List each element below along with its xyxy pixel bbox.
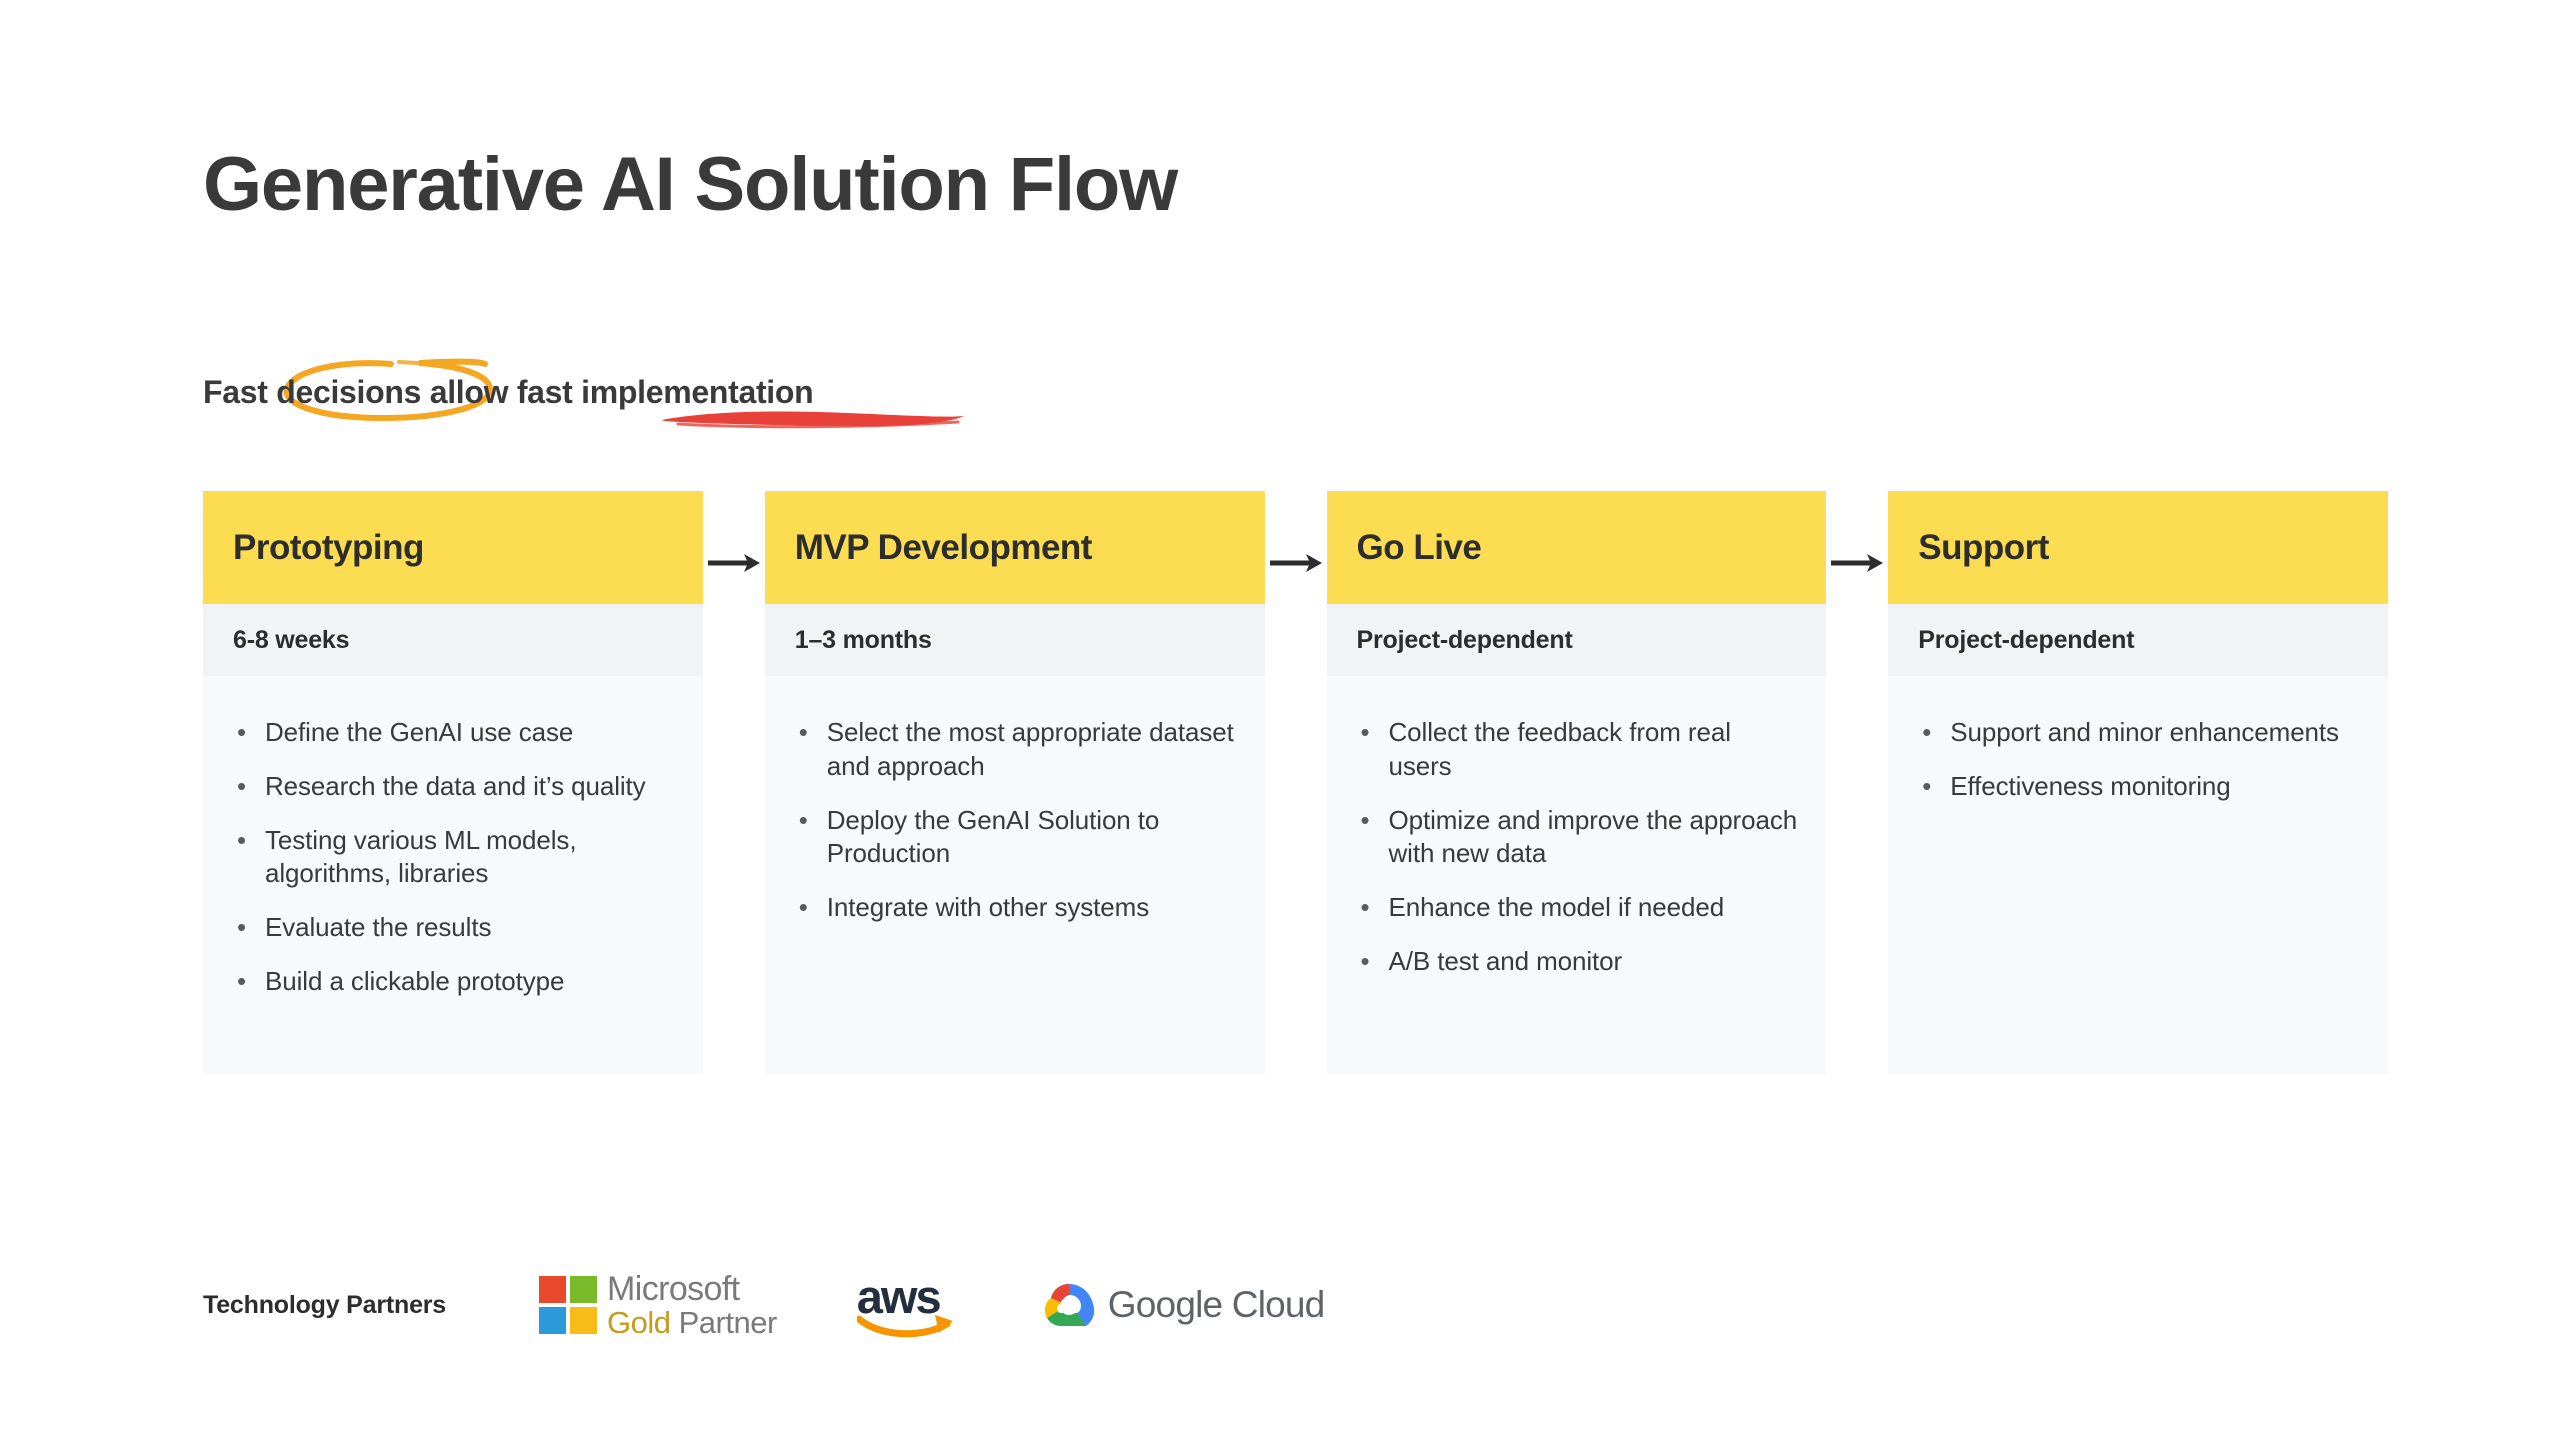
bullet-text: Deploy the GenAI Solution to Production <box>827 805 1160 869</box>
bullet-dot-icon: • <box>1922 770 1931 804</box>
technology-partners-footer: Technology Partners Microsoft Gold Partn… <box>203 1265 1324 1345</box>
google-cloud-icon <box>1042 1281 1096 1329</box>
list-item: •Enhance the model if needed <box>1355 891 1799 925</box>
stage-bullet-list: •Support and minor enhancements •Effecti… <box>1916 716 2360 804</box>
bullet-dot-icon: • <box>1922 716 1931 750</box>
subtitle-middle: allow fast <box>421 374 581 410</box>
flow-stage-mvp-development[interactable]: MVP Development 1–3 months •Select the m… <box>765 491 1265 1074</box>
bullet-text: Support and minor enhancements <box>1950 717 2339 747</box>
flow-stage-prototyping[interactable]: Prototyping 6-8 weeks •Define the GenAI … <box>203 491 703 1074</box>
aws-logo: aws <box>857 1273 962 1337</box>
bullet-text: Collect the feedback from real users <box>1389 717 1731 781</box>
microsoft-squares-icon <box>539 1276 597 1334</box>
stage-duration-band: Project-dependent <box>1327 604 1827 676</box>
list-item: •Collect the feedback from real users <box>1355 716 1799 784</box>
list-item: •Build a clickable prototype <box>231 965 675 999</box>
bullet-text: Define the GenAI use case <box>265 717 573 747</box>
subtitle-circled-word: decisions <box>276 374 421 410</box>
technology-partners-label: Technology Partners <box>203 1291 446 1320</box>
list-item: •Select the most appropriate dataset and… <box>793 716 1237 784</box>
flow-stage-go-live[interactable]: Go Live Project-dependent •Collect the f… <box>1327 491 1827 1074</box>
google-text: Google <box>1108 1284 1223 1325</box>
subtitle-underlined-word: implementation <box>581 374 813 410</box>
microsoft-gold-partner-logo: Microsoft Gold Partner <box>539 1272 777 1338</box>
stage-header: Prototyping <box>203 491 703 604</box>
stage-title: MVP Development <box>795 528 1092 568</box>
list-item: •Research the data and it’s quality <box>231 770 675 804</box>
flow-connector-2 <box>1265 491 1327 1074</box>
microsoft-partner-text: Partner <box>671 1305 777 1340</box>
bullet-text: Enhance the model if needed <box>1389 892 1725 922</box>
stage-title: Go Live <box>1357 528 1482 568</box>
microsoft-gold-text: Gold <box>607 1305 670 1340</box>
arrow-right-icon <box>708 552 760 574</box>
microsoft-tier: Gold Partner <box>607 1307 777 1338</box>
list-item: •Evaluate the results <box>231 911 675 945</box>
flow-connector-1 <box>703 491 765 1074</box>
list-item: •Effectiveness monitoring <box>1916 770 2360 804</box>
bullet-text: Testing various ML models, algorithms, l… <box>265 825 576 889</box>
flow-connector-3 <box>1826 491 1888 1074</box>
bullet-text: Select the most appropriate dataset and … <box>827 717 1234 781</box>
list-item: •A/B test and monitor <box>1355 945 1799 979</box>
list-item: •Support and minor enhancements <box>1916 716 2360 750</box>
bullet-text: Research the data and it’s quality <box>265 771 646 801</box>
bullet-text: A/B test and monitor <box>1389 946 1623 976</box>
bullet-text: Build a clickable prototype <box>265 966 564 996</box>
bullet-dot-icon: • <box>237 716 246 750</box>
stage-header: Go Live <box>1327 491 1827 604</box>
stage-duration: Project-dependent <box>1918 626 2134 655</box>
stage-title: Prototyping <box>233 528 424 568</box>
list-item: •Define the GenAI use case <box>231 716 675 750</box>
bullet-text: Effectiveness monitoring <box>1950 771 2230 801</box>
cloud-text: Cloud <box>1222 1284 1324 1325</box>
solution-flow-diagram: Prototyping 6-8 weeks •Define the GenAI … <box>203 491 2388 1074</box>
stage-header: Support <box>1888 491 2388 604</box>
bullet-dot-icon: • <box>237 770 246 804</box>
list-item: •Deploy the GenAI Solution to Production <box>793 804 1237 872</box>
stage-duration: Project-dependent <box>1357 626 1573 655</box>
list-item: •Testing various ML models, algorithms, … <box>231 824 675 892</box>
stage-body: •Collect the feedback from real users •O… <box>1327 676 1827 1074</box>
bullet-text: Integrate with other systems <box>827 892 1149 922</box>
arrow-right-icon <box>1270 552 1322 574</box>
stage-duration-band: Project-dependent <box>1888 604 2388 676</box>
subtitle-prefix: Fast <box>203 374 276 410</box>
subtitle-text: Fast decisions allow fast implementation <box>203 370 813 414</box>
bullet-dot-icon: • <box>1361 804 1370 838</box>
arrow-right-icon <box>1831 552 1883 574</box>
list-item: •Integrate with other systems <box>793 891 1237 925</box>
stage-title: Support <box>1918 528 2049 568</box>
bullet-dot-icon: • <box>1361 891 1370 925</box>
bullet-dot-icon: • <box>237 911 246 945</box>
stage-bullet-list: •Select the most appropriate dataset and… <box>793 716 1237 925</box>
subtitle-block: Fast decisions allow fast implementation <box>203 370 813 430</box>
stage-bullet-list: •Collect the feedback from real users •O… <box>1355 716 1799 979</box>
bullet-dot-icon: • <box>799 804 808 838</box>
google-cloud-logo: Google Cloud <box>1042 1281 1325 1329</box>
stage-duration-band: 6-8 weeks <box>203 604 703 676</box>
stage-duration: 1–3 months <box>795 626 932 655</box>
stage-body: •Define the GenAI use case •Research the… <box>203 676 703 1074</box>
microsoft-name: Microsoft <box>607 1272 777 1306</box>
bullet-dot-icon: • <box>799 891 808 925</box>
microsoft-wordmark: Microsoft Gold Partner <box>607 1272 777 1338</box>
bullet-text: Optimize and improve the approach with n… <box>1389 805 1798 869</box>
flow-stage-support[interactable]: Support Project-dependent •Support and m… <box>1888 491 2388 1074</box>
bullet-dot-icon: • <box>799 716 808 750</box>
stage-body: •Support and minor enhancements •Effecti… <box>1888 676 2388 1074</box>
page-title: Generative AI Solution Flow <box>203 143 1177 227</box>
stage-duration-band: 1–3 months <box>765 604 1265 676</box>
stage-header: MVP Development <box>765 491 1265 604</box>
bullet-text: Evaluate the results <box>265 912 491 942</box>
stage-duration: 6-8 weeks <box>233 626 349 655</box>
bullet-dot-icon: • <box>1361 945 1370 979</box>
bullet-dot-icon: • <box>237 824 246 858</box>
list-item: •Optimize and improve the approach with … <box>1355 804 1799 872</box>
bullet-dot-icon: • <box>237 965 246 999</box>
bullet-dot-icon: • <box>1361 716 1370 750</box>
aws-smile-arrow-icon <box>857 1313 962 1339</box>
google-cloud-wordmark: Google Cloud <box>1108 1284 1325 1326</box>
stage-body: •Select the most appropriate dataset and… <box>765 676 1265 1074</box>
stage-bullet-list: •Define the GenAI use case •Research the… <box>231 716 675 999</box>
